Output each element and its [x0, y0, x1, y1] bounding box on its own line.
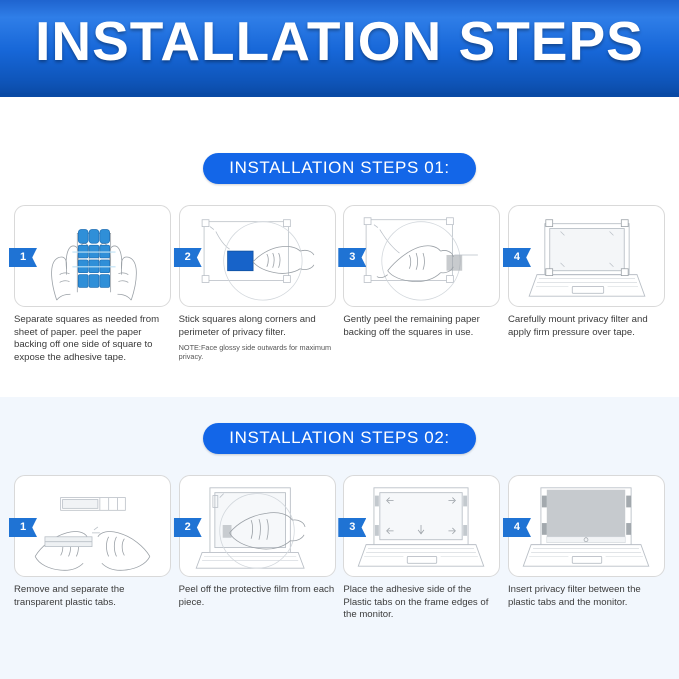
section-1-badge-wrap: INSTALLATION STEPS 01: [0, 153, 679, 184]
laptop-with-filter-inserted-icon [509, 476, 664, 576]
header-banner: INSTALLATION STEPS [0, 0, 679, 97]
step-caption: Remove and separate the transparent plas… [14, 584, 171, 609]
step-illustration-2-4: 4 [508, 475, 665, 577]
hands-separating-plastic-tabs-icon [15, 476, 170, 576]
section-installation-steps-02: INSTALLATION STEPS 02: [0, 397, 679, 679]
step-card-2-1: 1 Remove and separate the transparent pl… [14, 475, 171, 626]
step-card-1-3: 3 Gently peel the remaining paper backin… [343, 205, 500, 368]
section-2-badge-wrap: INSTALLATION STEPS 02: [0, 423, 679, 454]
step-caption: Separate squares as needed from sheet of… [14, 314, 171, 364]
section-2-badge: INSTALLATION STEPS 02: [203, 423, 475, 454]
step-illustration-2-3: 3 [343, 475, 500, 577]
section-1-badge: INSTALLATION STEPS 01: [203, 153, 475, 184]
step-caption: Gently peel the remaining paper backing … [343, 314, 500, 339]
step-illustration-2-2: 2 [179, 475, 336, 577]
section-1-steps-row: 1 Separate squares as needed from sheet … [0, 205, 679, 368]
step-caption: Place the adhesive side of the Plastic t… [343, 584, 500, 622]
step-caption: Peel off the protective film from each p… [179, 584, 336, 609]
hand-peeling-backing-icon [344, 206, 499, 306]
step-illustration-1-1: 1 [14, 205, 171, 307]
step-illustration-1-4: 4 [508, 205, 665, 307]
step-note: NOTE:Face glossy side outwards for maxim… [179, 343, 336, 362]
hands-holding-blue-squares-icon [15, 206, 170, 306]
laptop-mounting-filter-icon [509, 206, 664, 306]
step-card-2-4: 4 Insert privacy filter between the plas… [508, 475, 665, 626]
infographic-page: INSTALLATION STEPS INSTALLATION STEPS 01… [0, 0, 679, 679]
section-installation-steps-01: INSTALLATION STEPS 01: [0, 97, 679, 397]
step-card-1-2: 2 Stick squares along corners and perime… [179, 205, 336, 368]
page-title: INSTALLATION STEPS [0, 8, 679, 74]
step-card-2-3: 3 Place the adhesive side of the Plastic… [343, 475, 500, 626]
step-caption: Carefully mount privacy filter and apply… [508, 314, 665, 339]
step-card-1-1: 1 Separate squares as needed from sheet … [14, 205, 171, 368]
step-illustration-2-1: 1 [14, 475, 171, 577]
hand-placing-square-on-frame-icon [180, 206, 335, 306]
section-2-steps-row: 1 Remove and separate the transparent pl… [0, 475, 679, 626]
step-illustration-1-2: 2 [179, 205, 336, 307]
step-caption: Insert privacy filter between the plasti… [508, 584, 665, 609]
step-illustration-1-3: 3 [343, 205, 500, 307]
laptop-with-tabs-on-frame-icon [344, 476, 499, 576]
step-card-2-2: 2 Peel off the protective film from each… [179, 475, 336, 626]
hand-peeling-protective-film-icon [180, 476, 335, 576]
step-card-1-4: 4 Carefully mount privacy filter and app… [508, 205, 665, 368]
step-caption: Stick squares along corners and perimete… [179, 314, 336, 339]
